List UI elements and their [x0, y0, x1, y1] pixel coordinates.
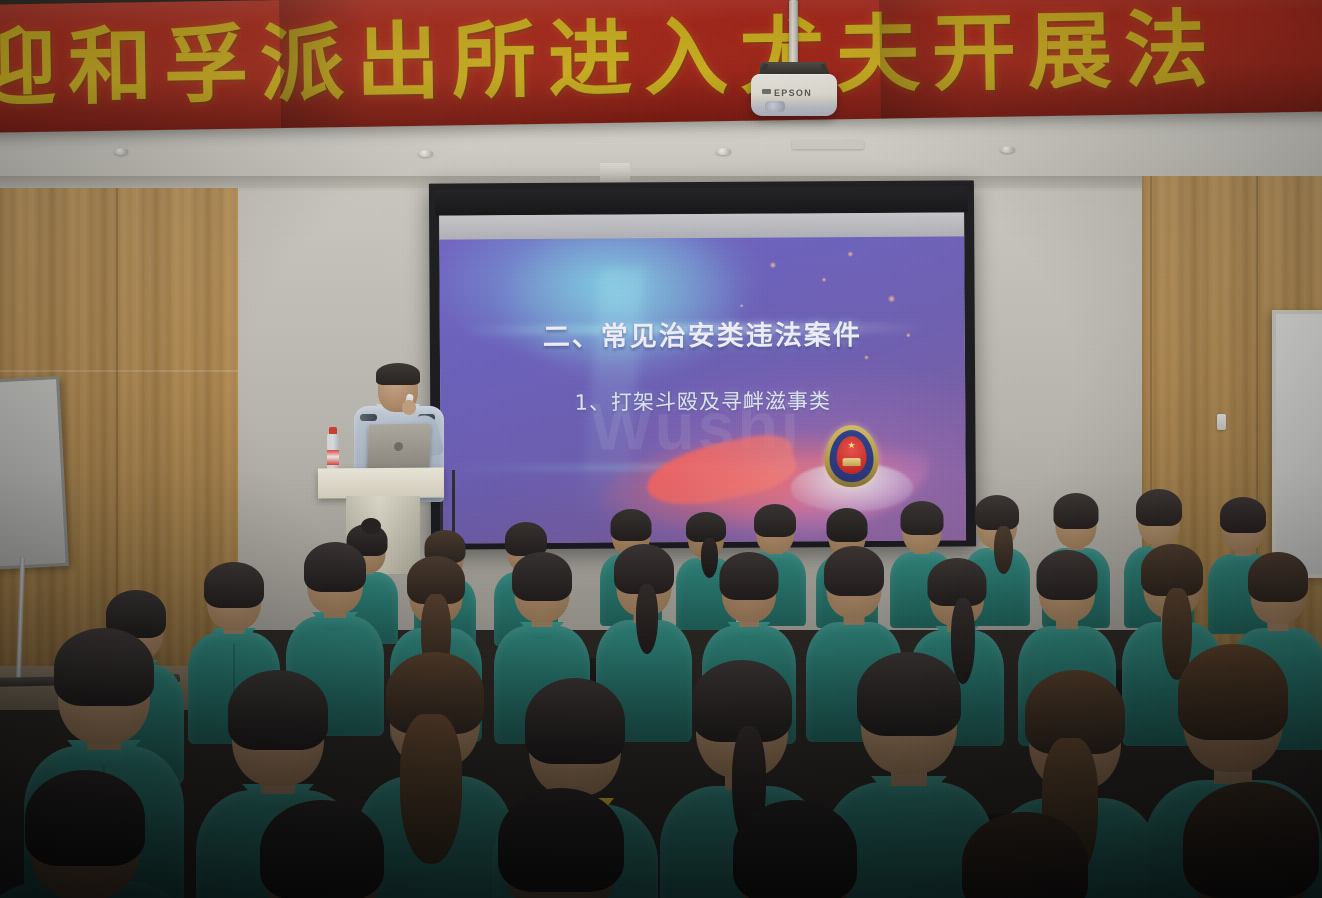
person-hair — [1037, 550, 1098, 600]
screen-top-bar — [435, 186, 968, 215]
slide-spark — [888, 295, 896, 303]
audience-person — [688, 800, 902, 898]
person-hair — [1183, 782, 1319, 898]
person-hair — [1054, 493, 1099, 529]
audience-person — [916, 812, 1134, 898]
person-hair — [720, 552, 779, 600]
person-hair — [498, 788, 624, 892]
audience-person — [1136, 786, 1322, 898]
person-hair — [1248, 552, 1308, 602]
person-hair — [1220, 497, 1266, 533]
person-hair — [260, 800, 384, 898]
welcome-banner: 迎和孚派出所进入尤夫开展法 — [0, 0, 1322, 133]
ceiling-light-icon — [1000, 146, 1015, 153]
person-hair — [512, 552, 572, 601]
water-bottle — [327, 433, 339, 471]
slide-spark — [821, 277, 826, 282]
bottle-cap-icon — [329, 427, 337, 434]
person-hair — [505, 522, 547, 556]
emblem-center-icon: ★ — [836, 436, 866, 474]
slide-spark — [769, 262, 776, 269]
person-hair — [962, 812, 1088, 898]
person-hair — [975, 495, 1019, 530]
officer-epaulette — [360, 414, 377, 421]
ceiling-light-icon — [418, 150, 433, 157]
person-hair — [1178, 644, 1288, 740]
slide-spark — [740, 304, 744, 308]
laptop-logo-icon — [394, 442, 403, 451]
ceiling-vent — [792, 140, 864, 149]
projector-mount-pole — [789, 0, 798, 66]
person-hair — [25, 770, 145, 866]
person-hair — [857, 652, 961, 736]
person-hair — [304, 542, 366, 592]
audience-person — [0, 770, 190, 898]
slide-spark — [864, 355, 869, 360]
emblem-star-icon: ★ — [847, 441, 855, 450]
person-hair — [204, 562, 264, 608]
person-bun-icon — [361, 518, 381, 534]
person-hair — [824, 546, 884, 596]
slide-title: 二、常见治安类违法案件 — [440, 312, 965, 354]
person-hair — [1136, 489, 1182, 526]
person-hair — [901, 501, 944, 535]
audience-person — [212, 800, 432, 898]
person-hair — [54, 628, 154, 706]
person-hair — [733, 800, 857, 898]
projector-vent-icon — [762, 89, 771, 94]
person-hair — [611, 509, 652, 541]
person-hair — [525, 678, 625, 764]
seated-audience — [0, 470, 1322, 898]
banner-text: 迎和孚派出所进入尤夫开展法 — [0, 0, 1322, 117]
ceiling-light-icon — [114, 148, 128, 155]
person-hair — [754, 504, 796, 537]
officer-hair — [376, 363, 420, 385]
officer-hand — [402, 400, 416, 415]
presenter-laptop[interactable] — [367, 423, 431, 470]
slide-subtitle: 1、打架斗殴及寻衅滋事类 — [440, 384, 965, 417]
projector-lens-icon — [765, 101, 785, 112]
light-switch[interactable] — [1217, 414, 1226, 430]
emblem-gate-icon — [843, 458, 861, 466]
slide-spark — [847, 251, 853, 257]
bottle-label — [327, 450, 339, 465]
lecture-hall-photo: 迎和孚派出所进入尤夫开展法 EPSON — [0, 0, 1322, 898]
audience-person — [452, 788, 670, 898]
epson-projector: EPSON — [751, 74, 837, 116]
projector-brand-label: EPSON — [774, 88, 812, 98]
person-hair — [827, 508, 868, 542]
ceiling-light-icon — [716, 148, 731, 155]
panel-seam — [0, 370, 238, 372]
person-hair — [228, 670, 328, 750]
